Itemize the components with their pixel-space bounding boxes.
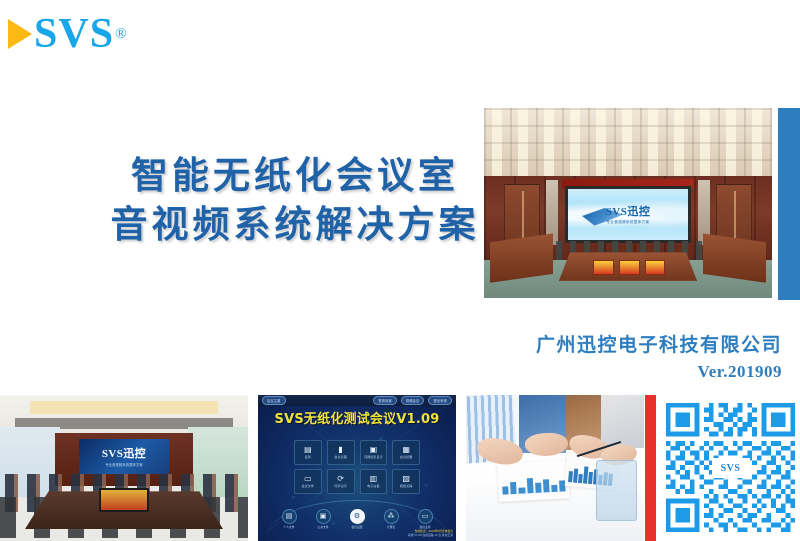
qr-center-logo: SVS: [712, 458, 750, 478]
p2-tile-sync-demo[interactable]: ⟳ 同步演示: [327, 469, 355, 494]
company-name: 广州迅控电子科技有限公司: [400, 330, 782, 357]
p2-tile-label: 电子白板: [367, 484, 379, 488]
hero-flag: [593, 260, 614, 275]
clipboard-icon: ▤: [304, 446, 312, 454]
folder-icon: ▭: [304, 475, 312, 483]
p2-tile-files[interactable]: ▭ 会议文件: [294, 469, 322, 494]
p2-tile-label: 会议文件: [302, 484, 314, 488]
p2-tile-label: 同步演示: [334, 484, 346, 488]
p1-screen-subtitle: 专业音视频系统整体方案: [105, 462, 142, 467]
p2-tile-label: 会议纪要: [400, 455, 412, 459]
p2-function-grid: ▤ 签到 ▮ 会议议程 ▣ 同屏投影显示 ▦ 会议纪要 ▭ 会议文件: [294, 440, 420, 494]
qr-code[interactable]: SVS: [661, 398, 800, 538]
p2-top-bar: 会议主题 签到设置 视频会议 退出系统: [258, 395, 456, 406]
note-icon: ▦: [402, 446, 410, 454]
logo-triangle-icon: [8, 19, 32, 49]
p2-dock-bar: ▤ 个人文件 ▣ 公共文件 ⚙ 会议设置 ⁂ 计量表 ▭ 会议主持: [272, 509, 442, 530]
p3-bar-chart-left: [502, 472, 566, 495]
red-accent-bar: [645, 395, 656, 541]
p2-tile-label: 同屏投影显示: [364, 455, 383, 459]
group-icon: ⁂: [384, 509, 399, 524]
p2-status-line-2: 系统 V1.09 在线设备 23 台 状态正常: [408, 534, 453, 537]
title-line-2: 音视频系统解决方案: [95, 201, 495, 250]
p1-led-screen: SVS迅控 专业音视频系统整体方案: [79, 439, 168, 474]
p2-tile-label: 视频点播: [400, 484, 412, 488]
p2-status-text: 当前会议：2019年9月全体会议 系统 V1.09 在线设备 23 台 状态正常: [408, 530, 453, 537]
p2-tile-whiteboard[interactable]: ▥ 电子白板: [360, 469, 388, 494]
version-label: Ver.201909: [400, 362, 782, 382]
p2-tile-label: 签到: [305, 455, 311, 459]
p3-person-light-top: [601, 395, 644, 448]
strip-panel-team-discussion: [466, 395, 644, 541]
p2-dock-label: 计量表: [387, 525, 395, 529]
bottom-image-strip: SVS迅控 专业音视频系统整体方案 会议主题 签到设置 视频会议 退出系统 SV…: [0, 395, 800, 541]
settings-icon: ⚙: [350, 509, 365, 524]
monitor-icon: ▭: [418, 509, 433, 524]
p2-topbar-pill-signin[interactable]: 签到设置: [373, 396, 397, 405]
public-file-icon: ▣: [316, 509, 331, 524]
p2-tile-video[interactable]: ▧ 视频点播: [392, 469, 420, 494]
hero-screen-brand: SVS迅控: [606, 203, 651, 219]
p2-tile-minutes[interactable]: ▦ 会议纪要: [392, 440, 420, 465]
p2-app-title: SVS无纸化测试会议V1.09: [258, 408, 456, 427]
hero-led-screen: SVS迅控 专业音视频系统整体方案: [565, 186, 692, 243]
hero-flag: [645, 260, 666, 275]
logo-text: SVS: [34, 13, 114, 55]
slide-cover: SVS ® 智能无纸化会议室 音视频系统解决方案 SVS迅控 专业音视频系统整体…: [0, 0, 800, 541]
p2-dock-label: 个人文件: [283, 525, 294, 529]
hero-screen-subtitle: 专业音视频系统整体方案: [607, 220, 650, 225]
document-icon: ▮: [338, 446, 342, 454]
p2-topbar-right-pills: 签到设置 视频会议 退出系统: [373, 396, 452, 405]
strip-panel-qr: SVS: [645, 395, 800, 541]
page-title: 智能无纸化会议室 音视频系统解决方案: [95, 152, 495, 250]
p2-topbar-pill-video[interactable]: 视频会议: [401, 396, 425, 405]
p2-topbar-left-pill[interactable]: 会议主题: [262, 396, 286, 405]
registered-trademark-icon: ®: [115, 27, 126, 42]
p1-ceiling-light-a: [30, 401, 218, 414]
hero-conference-room-image: SVS迅控 专业音视频系统整体方案: [484, 108, 772, 298]
p2-dock-label: 会议设置: [351, 525, 362, 529]
hero-ceiling-grid: [484, 108, 772, 180]
screen-share-icon: ▣: [370, 446, 378, 454]
p3-report-left: [497, 460, 570, 502]
strip-panel-software-ui: 会议主题 签到设置 视频会议 退出系统 SVS无纸化测试会议V1.09 ▤ 签到…: [258, 395, 456, 541]
hero-desk-flags: [593, 260, 665, 273]
p2-dock-settings[interactable]: ⚙ 会议设置: [350, 509, 365, 530]
p2-topbar-pill-exit[interactable]: 退出系统: [428, 396, 452, 405]
p2-tile-signin[interactable]: ▤ 签到: [294, 440, 322, 465]
p2-dock-public-files[interactable]: ▣ 公共文件: [316, 509, 331, 530]
camera-icon: ▥: [370, 475, 378, 483]
p2-tile-agenda[interactable]: ▮ 会议议程: [327, 440, 355, 465]
p2-tile-screen-share[interactable]: ▣ 同屏投影显示: [360, 440, 388, 465]
p2-tile-label: 会议议程: [334, 455, 346, 459]
qr-center-label: SVS: [721, 463, 741, 474]
brand-logo: SVS ®: [8, 12, 126, 56]
p2-dock-personal-files[interactable]: ▤ 个人文件: [282, 509, 297, 530]
p2-dock-host[interactable]: ▭ 会议主持: [418, 509, 433, 530]
video-icon: ▧: [402, 475, 410, 483]
user-file-icon: ▤: [282, 509, 297, 524]
strip-panel-meeting-room: SVS迅控 专业音视频系统整体方案: [0, 395, 248, 541]
accent-bar-right: [778, 108, 800, 300]
p2-dock-label: 公共文件: [317, 525, 328, 529]
p3-water-glass: [596, 460, 637, 520]
title-line-1: 智能无纸化会议室: [95, 152, 495, 201]
p1-screen-brand: SVS迅控: [102, 445, 146, 461]
hero-flag: [619, 260, 640, 275]
sync-icon: ⟳: [337, 475, 344, 483]
p2-dock-group[interactable]: ⁂ 计量表: [384, 509, 399, 530]
p1-table-display: [99, 488, 149, 511]
